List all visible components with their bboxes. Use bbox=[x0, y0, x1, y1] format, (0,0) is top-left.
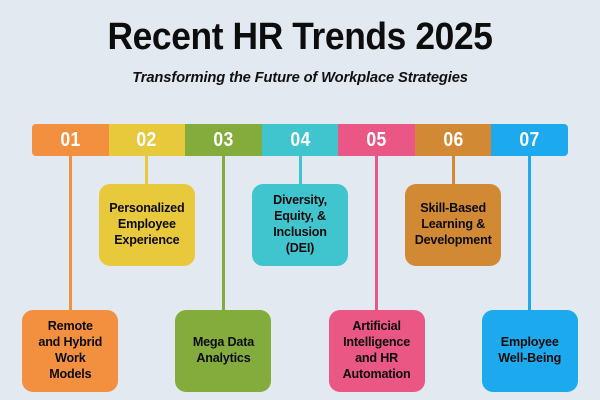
trend-card-04[interactable]: Diversity, Equity, & Inclusion (DEI) bbox=[252, 184, 348, 266]
step-number-04[interactable]: 04 bbox=[262, 124, 339, 156]
trend-card-01[interactable]: Remote and Hybrid Work Models bbox=[22, 310, 118, 392]
step-number-05[interactable]: 05 bbox=[338, 124, 415, 156]
step-number-06[interactable]: 06 bbox=[415, 124, 492, 156]
trend-card-02[interactable]: Personalized Employee Experience bbox=[99, 184, 195, 266]
page-title: Recent HR Trends 2025 bbox=[21, 0, 579, 58]
connector-line-07 bbox=[528, 156, 531, 314]
step-number-label: 03 bbox=[213, 129, 233, 152]
step-number-label: 04 bbox=[290, 129, 310, 152]
trend-card-label: Diversity, Equity, & Inclusion (DEI) bbox=[273, 193, 327, 257]
trend-card-label: Personalized Employee Experience bbox=[109, 201, 184, 249]
step-number-02[interactable]: 02 bbox=[109, 124, 186, 156]
trend-card-label: Skill-Based Learning & Development bbox=[415, 201, 492, 249]
connector-line-03 bbox=[222, 156, 225, 314]
step-number-07[interactable]: 07 bbox=[491, 124, 568, 156]
connector-line-05 bbox=[375, 156, 378, 314]
trend-card-label: Mega Data Analytics bbox=[193, 335, 254, 367]
step-number-label: 01 bbox=[60, 129, 80, 152]
connector-line-01 bbox=[69, 156, 72, 314]
trend-card-label: Remote and Hybrid Work Models bbox=[38, 319, 102, 383]
step-number-strip: 01020304050607 bbox=[32, 124, 568, 156]
step-number-label: 05 bbox=[366, 129, 386, 152]
trend-card-label: Employee Well-Being bbox=[498, 335, 561, 367]
header: Recent HR Trends 2025 Transforming the F… bbox=[0, 0, 600, 86]
trend-card-05[interactable]: Artificial Intelligence and HR Automatio… bbox=[329, 310, 425, 392]
trend-card-03[interactable]: Mega Data Analytics bbox=[175, 310, 271, 392]
step-number-label: 07 bbox=[520, 129, 540, 152]
trend-card-label: Artificial Intelligence and HR Automatio… bbox=[343, 319, 411, 383]
page-subtitle: Transforming the Future of Workplace Str… bbox=[9, 58, 591, 86]
step-number-label: 02 bbox=[137, 129, 157, 152]
step-number-03[interactable]: 03 bbox=[185, 124, 262, 156]
step-number-01[interactable]: 01 bbox=[32, 124, 109, 156]
trend-card-07[interactable]: Employee Well-Being bbox=[482, 310, 578, 392]
step-number-label: 06 bbox=[443, 129, 463, 152]
trend-card-06[interactable]: Skill-Based Learning & Development bbox=[405, 184, 501, 266]
infographic-canvas: Recent HR Trends 2025 Transforming the F… bbox=[0, 0, 600, 400]
